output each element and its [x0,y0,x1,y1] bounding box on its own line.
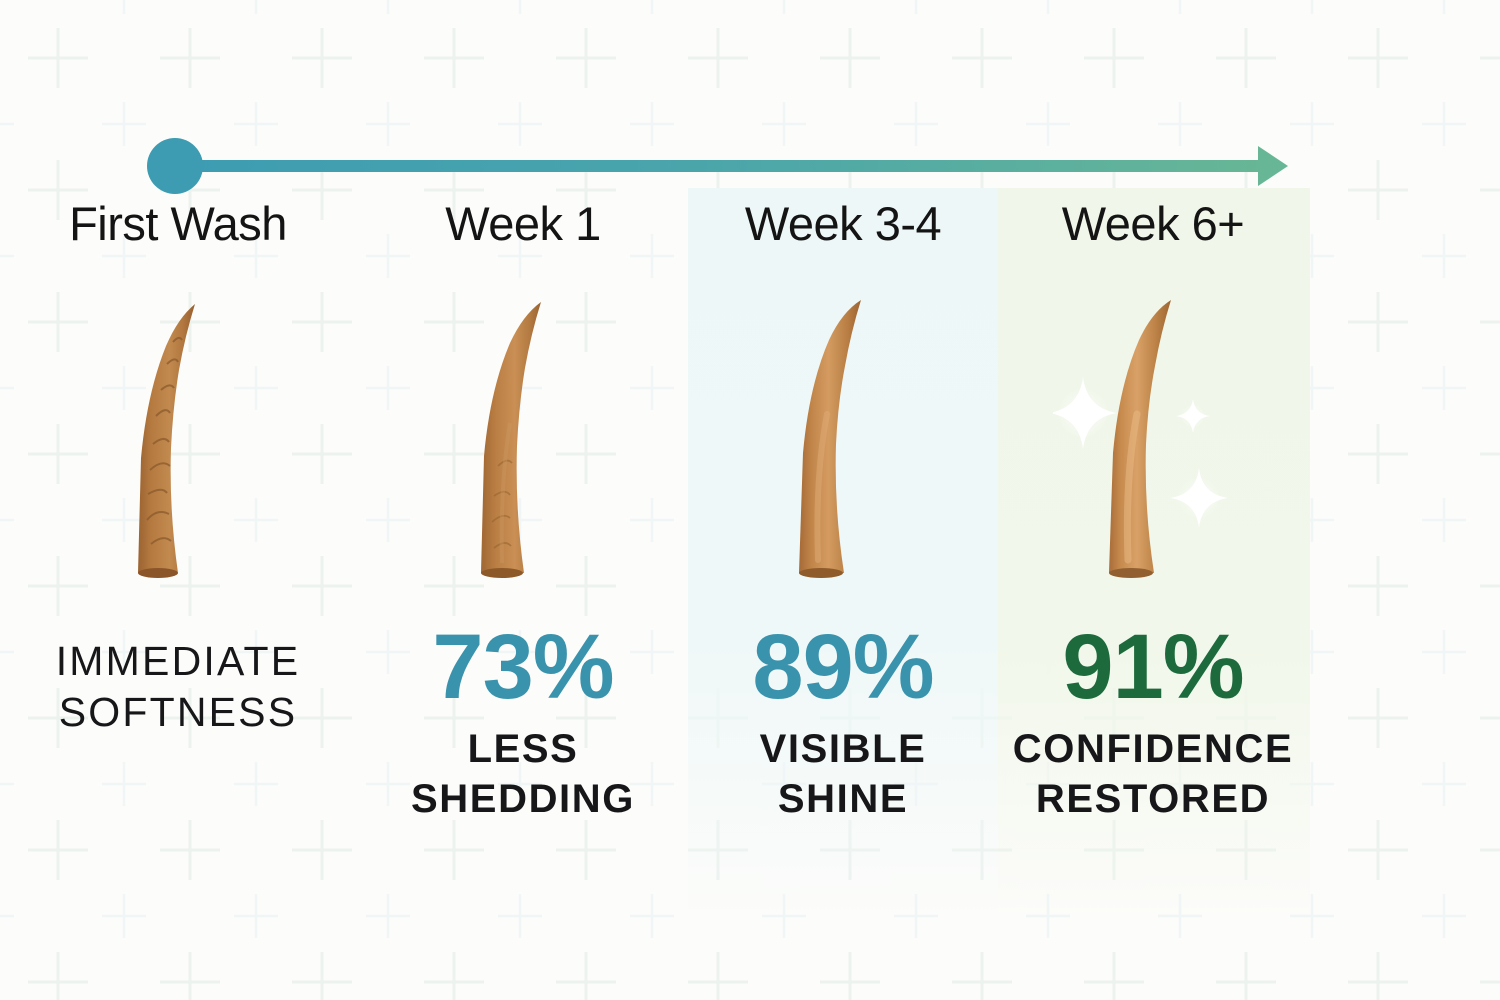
stat-block-week-6-plus: 91% CONFIDENCE RESTORED [998,624,1308,825]
stage-week-1[interactable]: Week 1 [368,200,678,825]
strand-base [1109,568,1153,578]
strand-body [799,300,861,573]
results-timeline-infographic: First Wash [0,0,1500,1000]
stage-week-3-4[interactable]: Week 3-4 [688,200,998,825]
stage-title: First Wash [23,200,333,256]
hair-strand-glossy-icon [1053,298,1253,588]
stage-title: Week 3-4 [688,200,998,256]
stat-block-first-wash: IMMEDIATE SOFTNESS [23,636,333,738]
sparkle-icon [1053,377,1117,449]
stage-week-6-plus[interactable]: Week 6+ [998,200,1308,825]
hair-strand-smooth-icon [768,298,918,588]
strand-base [799,568,843,578]
strand-base [138,568,178,578]
sparkle-icon [1170,468,1228,528]
strand-base [481,568,523,578]
stat-percent: 91% [998,624,1308,711]
strand-illustration-week-6-plus [998,298,1308,598]
stat-caption: LESS SHEDDING [368,725,678,824]
stage-first-wash[interactable]: First Wash [23,200,333,738]
strand-illustration-week-3-4 [688,298,998,598]
strand-body [138,304,195,573]
strand-illustration-first-wash [23,298,333,598]
stage-title: Week 1 [368,200,678,256]
strand-body [1109,300,1171,573]
stat-block-week-1: 73% LESS SHEDDING [368,624,678,825]
stage-columns: First Wash [0,0,1500,1000]
stat-percent: 73% [368,624,678,711]
stat-caption: CONFIDENCE RESTORED [998,725,1308,824]
stat-percent: 89% [688,624,998,711]
stat-block-week-3-4: 89% VISIBLE SHINE [688,624,998,825]
stat-caption: VISIBLE SHINE [688,725,998,824]
hair-strand-improving-icon [448,298,598,588]
strand-illustration-week-1 [368,298,678,598]
hair-strand-damaged-icon [103,298,253,588]
strand-body [481,302,541,573]
stage-title: Week 6+ [998,200,1308,256]
stat-caption: IMMEDIATE SOFTNESS [23,636,333,738]
sparkle-icon [1176,399,1210,433]
